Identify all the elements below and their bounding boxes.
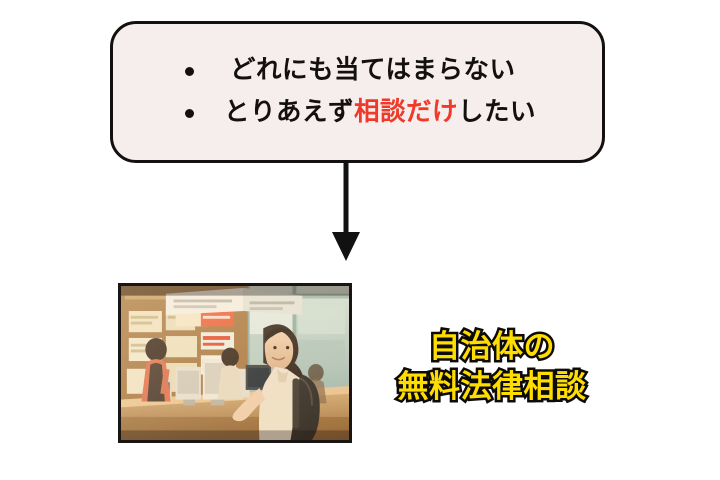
bullet-item-2-highlight: 相談だけ [354, 97, 458, 127]
bullet-dot-icon [185, 67, 194, 76]
list-item: どれにも当てはまらない [185, 53, 602, 89]
callout-box: どれにも当てはまらない とりあえず相談だけしたい [110, 21, 605, 163]
bullet-item-label-1: どれにも当てはまらない [230, 58, 516, 84]
counter-photo [118, 283, 352, 443]
bullet-item-2-tail: したい [458, 97, 536, 127]
headline-line-2: 無料法律相談 [377, 368, 607, 408]
bullet-list: どれにも当てはまらない とりあえず相談だけしたい [113, 24, 602, 160]
bullet-item-label-2: とりあえず相談だけしたい [224, 100, 536, 126]
arrow-down-icon [326, 160, 366, 264]
slide-canvas: どれにも当てはまらない とりあえず相談だけしたい [0, 0, 720, 480]
page-title: 自治体の 無料法律相談 [377, 328, 607, 407]
bullet-item-2-plain: とりあえず [224, 97, 354, 127]
bullet-dot-icon [185, 109, 194, 118]
headline-line-1: 自治体の [377, 328, 607, 368]
list-item: とりあえず相談だけしたい [185, 95, 602, 131]
